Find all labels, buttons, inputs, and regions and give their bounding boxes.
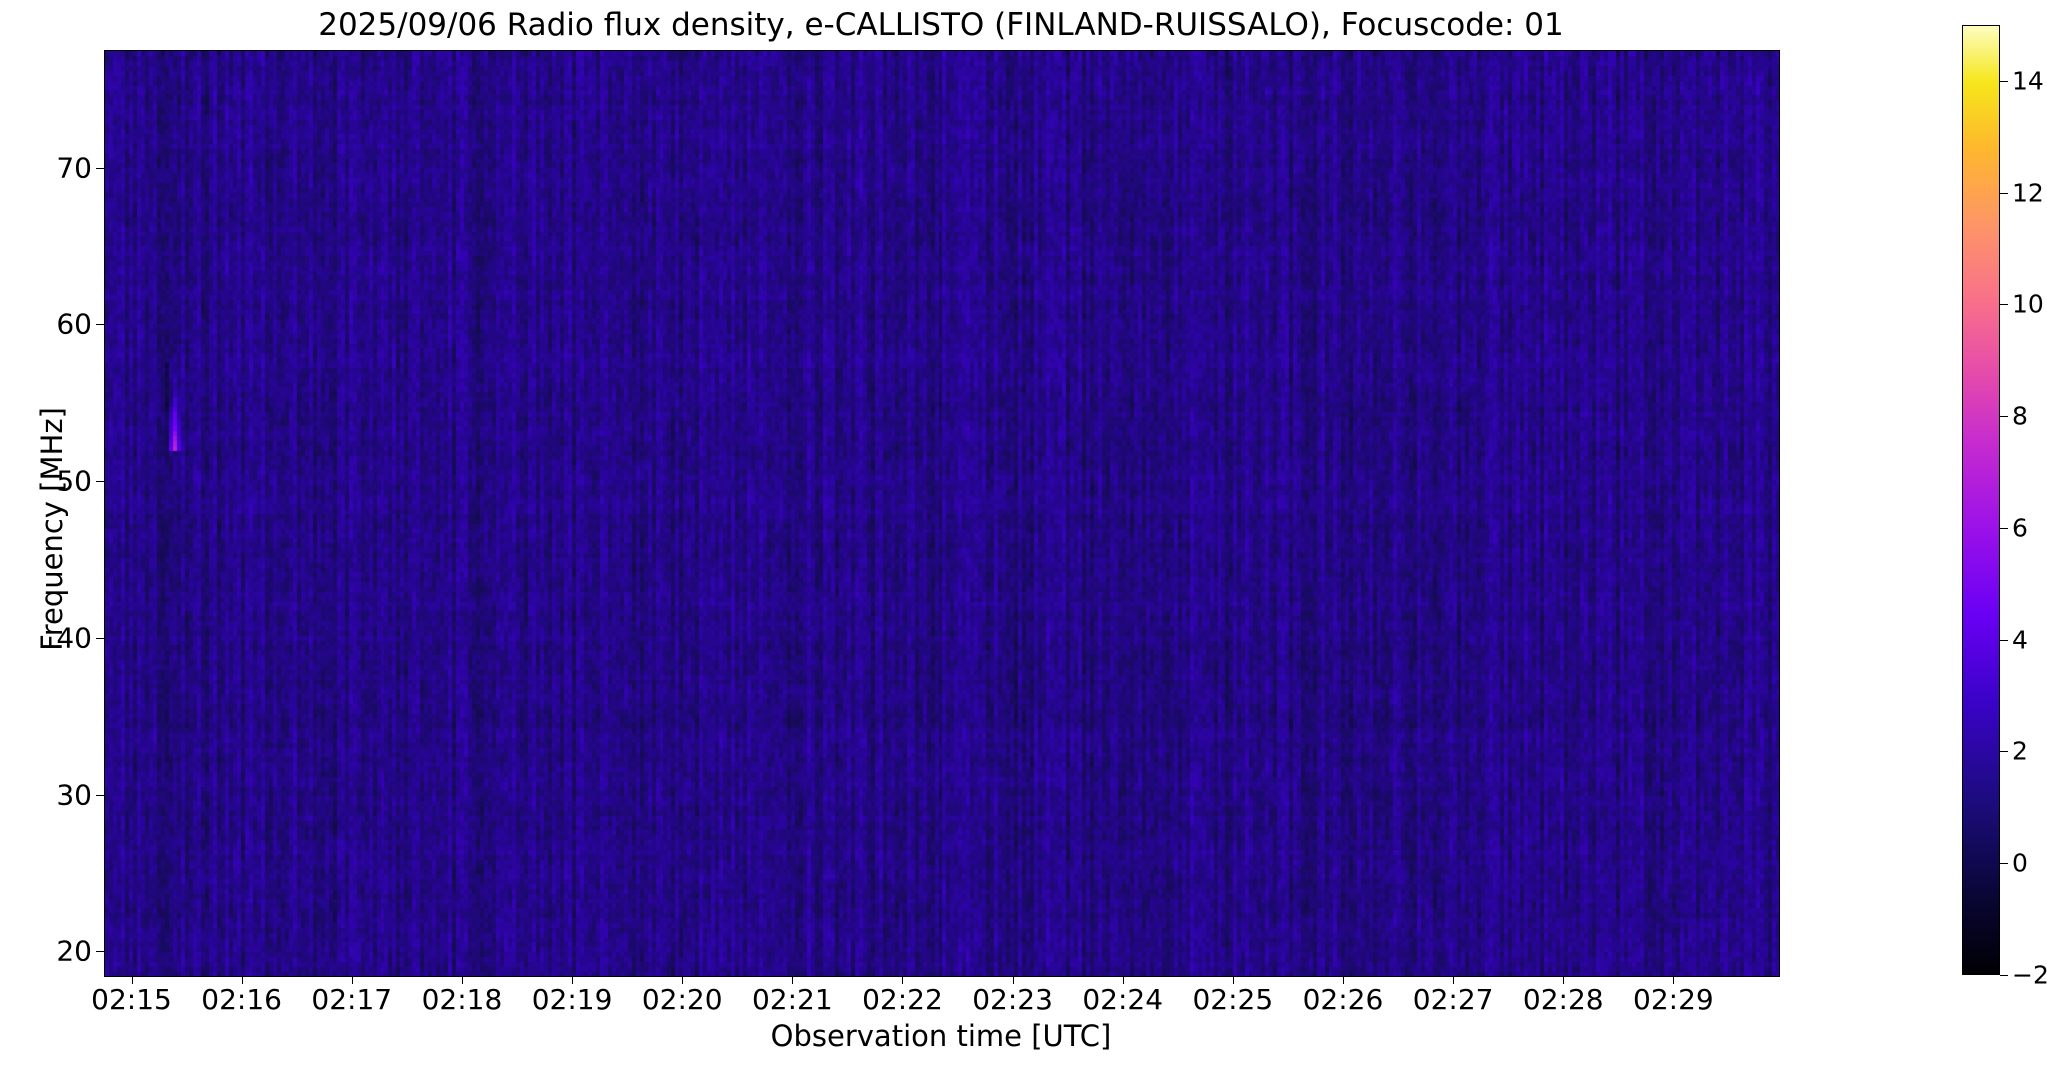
- x-tick-mark: [352, 976, 353, 984]
- x-tick-mark: [1343, 976, 1344, 984]
- colorbar-tick-mark: [2000, 416, 2008, 417]
- x-tick-mark: [1563, 976, 1564, 984]
- colorbar-tick-mark: [2000, 751, 2008, 752]
- x-tick-label: 02:29: [1593, 983, 1753, 1016]
- x-tick-mark: [792, 976, 793, 984]
- x-tick-mark: [462, 976, 463, 984]
- x-tick-mark: [242, 976, 243, 984]
- y-tick-mark: [96, 481, 104, 482]
- colorbar-tick-label: −2: [2012, 961, 2047, 990]
- colorbar-tick-label: 6: [2012, 513, 2028, 542]
- colorbar-tick-label: 10: [2012, 290, 2044, 319]
- x-tick-mark: [1233, 976, 1234, 984]
- colorbar-tick-mark: [2000, 640, 2008, 641]
- y-tick-mark: [96, 638, 104, 639]
- y-axis-label: Frequency [MHz]: [35, 269, 69, 789]
- colorbar-tick-label: 2: [2012, 737, 2028, 766]
- colorbar-tick-mark: [2000, 975, 2008, 976]
- spectrogram-image: [105, 51, 1779, 976]
- colorbar-tick-mark: [2000, 863, 2008, 864]
- y-tick-label: 20: [12, 935, 92, 968]
- x-axis-label: Observation time [UTC]: [104, 1019, 1778, 1053]
- y-tick-mark: [96, 324, 104, 325]
- x-tick-mark: [132, 976, 133, 984]
- y-tick-label: 30: [12, 778, 92, 811]
- colorbar: 14121086420−2: [1962, 25, 2000, 975]
- spectrogram-axes: [104, 50, 1780, 977]
- x-tick-mark: [572, 976, 573, 984]
- colorbar-tick-label: 0: [2012, 849, 2028, 878]
- x-tick-mark: [682, 976, 683, 984]
- y-tick-label: 50: [12, 465, 92, 498]
- y-tick-mark: [96, 795, 104, 796]
- y-tick-mark: [96, 168, 104, 169]
- x-tick-mark: [902, 976, 903, 984]
- colorbar-tick-label: 4: [2012, 625, 2028, 654]
- colorbar-tick-mark: [2000, 193, 2008, 194]
- x-tick-mark: [1673, 976, 1674, 984]
- x-tick-mark: [1453, 976, 1454, 984]
- x-tick-mark: [1123, 976, 1124, 984]
- colorbar-tick-mark: [2000, 304, 2008, 305]
- y-tick-label: 70: [12, 151, 92, 184]
- y-tick-mark: [96, 951, 104, 952]
- colorbar-tick-mark: [2000, 528, 2008, 529]
- page-title: 2025/09/06 Radio flux density, e-CALLIST…: [104, 6, 1778, 44]
- colorbar-tick-label: 14: [2012, 66, 2044, 95]
- colorbar-tick-label: 12: [2012, 178, 2044, 207]
- x-tick-mark: [1013, 976, 1014, 984]
- y-tick-label: 60: [12, 308, 92, 341]
- colorbar-tick-label: 8: [2012, 402, 2028, 431]
- colorbar-gradient: [1962, 25, 2000, 975]
- colorbar-tick-mark: [2000, 81, 2008, 82]
- y-tick-label: 40: [12, 621, 92, 654]
- spectrogram-figure: 2025/09/06 Radio flux density, e-CALLIST…: [0, 0, 2047, 1067]
